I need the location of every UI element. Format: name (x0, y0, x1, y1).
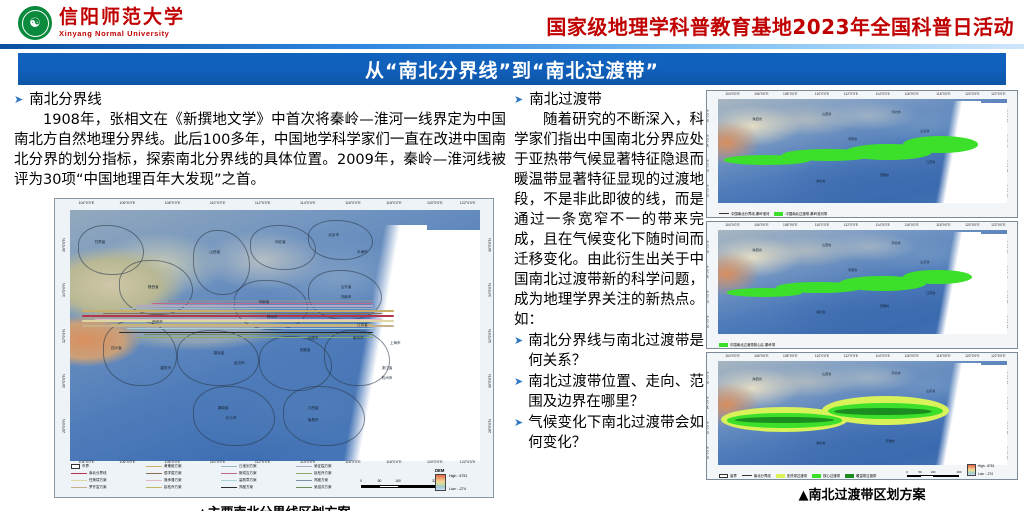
scale-tick: 0 (906, 470, 908, 474)
transition-band (903, 136, 978, 153)
legend-swatch (146, 473, 162, 475)
event-title: 国家级地理学科普教育基地2023年全国科普日活动 (546, 11, 1014, 40)
legend-swatch (774, 212, 783, 216)
legend-swatch (146, 480, 162, 482)
dem-high-label: High : 8751 (978, 464, 994, 468)
header-divider (0, 44, 1024, 49)
bullet-arrow-icon: ➤ (514, 92, 523, 109)
legend-swatch (221, 487, 237, 489)
legend-swatch (719, 213, 729, 214)
slide-title-text: 从“南北分界线”到“南北过渡带” (365, 56, 659, 83)
university-logo: ☯ 信阳师范大学 Xinyang Normal University (18, 6, 185, 40)
left-map-caption: ▲主要南北分界线区划方案 (54, 502, 494, 511)
legend-label: 亚热带过渡带 (787, 473, 807, 478)
legend-label: 中国南北分界线-秦岭淮河 (731, 211, 769, 216)
left-heading-text: 南北分界线 (29, 92, 102, 109)
transition-band (903, 270, 972, 285)
legend-label: 中国南北过渡带核心区-秦岭带 (730, 342, 775, 347)
bullet-arrow-icon: ➤ (514, 331, 523, 351)
map-transition-zone-2[interactable]: 104°0'0"E106°0'0"E108°0'0"E 110°0'0"E112… (706, 221, 1018, 349)
scale-tick: 200 (957, 470, 962, 474)
scale-tick: 100 (931, 470, 936, 474)
map3-lon-axis-top: 104°0'0"E106°0'0"E108°0'0"E 110°0'0"E112… (718, 354, 1007, 361)
map3-legend: 省界 南北分界线 亚热带过渡带 核心过渡带 暖温带过渡带 (719, 473, 876, 478)
legend-swatch (71, 464, 80, 469)
map-lon-axis-top: 104°0'0"E106°0'0"E 108°0'0"E110°0'0"E 11… (70, 201, 480, 209)
dem-low-label: Low : -274 (449, 487, 467, 491)
sea-area (406, 230, 480, 461)
legend-swatch (221, 480, 237, 482)
mid-paragraph: 随着研究的不断深入，科学家们指出中国南北分界应处于亚热带气候显著特征隐退而暖温带… (514, 110, 704, 330)
scale-tick: 160 (395, 479, 401, 483)
left-paragraph: 1908年，张相文在《新撰地文学》中首次将秦岭—淮河一线界定为中国南北方自然地理… (14, 110, 506, 190)
legend-swatch (742, 475, 752, 476)
legend-swatch (71, 480, 87, 482)
legend-swatch (221, 466, 237, 468)
sea-area (969, 234, 1007, 334)
legend-swatch (845, 474, 854, 478)
dem-high-label: High : 8751 (449, 474, 467, 478)
list-item: ➤ 南北过渡带位置、走向、范围及边界在哪里？ (514, 372, 704, 412)
bullet-arrow-icon: ➤ (514, 413, 523, 433)
bullet-arrow-icon: ➤ (14, 92, 23, 109)
transition-band-core (834, 408, 932, 415)
map-lat-axis-right: 36°0'0"N34°0'0"N 32°0'0"N30°0'0"N28°0'0"… (482, 210, 492, 461)
legend-label: 中国南北过渡带-秦岭淮河带 (785, 211, 827, 216)
dem-color-ramp (435, 474, 446, 491)
map3-lat-axis-left: 36°0'0"N34°0'0"N 32°0'0"N30°0'0"N (708, 361, 717, 465)
right-map-caption: ▲南北过渡带区划方案 (706, 484, 1018, 503)
scale-tick: 50 (918, 470, 921, 474)
map1-lon-axis-top: 104°0'0"E106°0'0"E108°0'0"E 110°0'0"E112… (718, 92, 1007, 99)
bullet-arrow-icon: ➤ (514, 372, 523, 392)
map1-legend: 中国南北分界线-秦岭淮河 中国南北过渡带-秦岭淮河带 (719, 211, 827, 216)
sea-area (969, 103, 1007, 203)
legend-label: 核心过渡带 (823, 473, 840, 478)
map3-dem-legend: High : 8751 Low : -274 (967, 464, 1013, 476)
university-name-en: Xinyang Normal University (59, 30, 185, 38)
map3-canvas: 陕西省 山西省 河北省 山东省 湖北省 安徽省 (718, 361, 1007, 465)
map2-lon-axis-top: 104°0'0"E106°0'0"E108°0'0"E 110°0'0"E112… (718, 223, 1007, 230)
map-lat-axis-left: 36°0'0"N34°0'0"N 32°0'0"N30°0'0"N28°0'0"… (56, 210, 66, 461)
legend-swatch (146, 466, 162, 468)
dem-title: DEM (435, 468, 487, 473)
map-transition-zone-3[interactable]: 104°0'0"E106°0'0"E108°0'0"E 110°0'0"E112… (706, 352, 1018, 480)
question-list: ➤ 南北分界线与南北过渡带是何关系？ ➤ 南北过渡带位置、走向、范围及边界在哪里… (514, 331, 704, 453)
legend-swatch (71, 487, 87, 489)
list-item: ➤ 南北分界线与南北过渡带是何关系？ (514, 331, 704, 371)
map2-lat-axis-left: 36°0'0"N34°0'0"N 32°0'0"N30°0'0"N (708, 230, 717, 334)
left-heading: ➤ 南北分界线 (14, 92, 506, 109)
dem-low-label: Low : -274 (978, 472, 994, 476)
map2-lat-axis-right: 36°0'0"N34°0'0"N 32°0'0"N30°0'0"N (1007, 230, 1016, 334)
mid-heading-text: 南北过渡带 (529, 92, 602, 109)
left-content-column: ➤ 南北分界线 1908年，张相文在《新撰地文学》中首次将秦岭—淮河一线界定为中… (14, 92, 506, 511)
question-text: 南北分界线与南北过渡带是何关系？ (528, 331, 704, 371)
question-text: 南北过渡带位置、走向、范围及边界在哪里？ (528, 372, 704, 412)
slide-root: ☯ 信阳师范大学 Xinyang Normal University 国家级地理… (0, 0, 1024, 511)
scale-tick: 80 (378, 479, 382, 483)
legend-swatch (719, 474, 728, 478)
scale-tick: 0 (360, 479, 362, 483)
map1-canvas: 陕西省 山西省 河北省 山东省 河南省 江苏省 安徽省 湖北省 (718, 99, 1007, 203)
legend-swatch (296, 466, 312, 468)
dem-color-ramp (967, 464, 976, 476)
legend-swatch (221, 473, 237, 475)
legend-swatch (296, 473, 312, 475)
map-boundary-schemes[interactable]: 104°0'0"E106°0'0"E 108°0'0"E110°0'0"E 11… (54, 198, 494, 498)
legend-swatch (719, 343, 728, 347)
legend-swatch (71, 473, 87, 475)
university-seal-icon: ☯ (18, 6, 52, 40)
slide-title-bar: 从“南北分界线”到“南北过渡带” (18, 53, 1006, 85)
map1-lat-axis-right: 36°0'0"N34°0'0"N 32°0'0"N30°0'0"N (1007, 99, 1016, 203)
mid-content-column: ➤ 南北过渡带 随着研究的不断深入，科学家们指出中国南北分界应处于亚热带气候显著… (514, 92, 704, 454)
map2-legend: 中国南北过渡带核心区-秦岭带 (719, 342, 775, 347)
legend-swatch (812, 474, 821, 478)
question-text: 气候变化下南北过渡带会如何变化？ (528, 413, 704, 453)
map-canvas: 甘肃省 陕西省 山西省 河北省 北京市 天津市 山东省 河南省 江苏省 安徽省 … (70, 210, 480, 461)
slide-header: ☯ 信阳师范大学 Xinyang Normal University 国家级地理… (0, 0, 1024, 46)
legend-swatch (296, 487, 312, 489)
dem-legend: DEM High : 8751 Low : -274 (435, 468, 487, 491)
map-transition-zone-1[interactable]: 104°0'0"E106°0'0"E108°0'0"E 110°0'0"E112… (706, 90, 1018, 218)
map-legend: 市界 黄秉维方案 丘宝剑方案 吴征镒方案 南北分界线 侯学煜方案 斯成吉方案 赵… (71, 463, 371, 493)
right-map-column: 104°0'0"E106°0'0"E108°0'0"E 110°0'0"E112… (706, 90, 1018, 503)
mid-heading: ➤ 南北过渡带 (514, 92, 704, 109)
map3-scale-bar: 0 50 100 200 (907, 470, 959, 477)
university-name-cn: 信阳师范大学 (59, 8, 185, 27)
map-scale-bar: 0 80 160 320 km (361, 479, 435, 488)
map3-lat-axis-right: 36°0'0"N34°0'0"N 32°0'0"N30°0'0"N (1007, 361, 1016, 465)
legend-swatch (296, 480, 312, 482)
legend-label: 省界 (730, 473, 737, 478)
legend-label: 暖温带过渡带 (856, 473, 876, 478)
legend-swatch (776, 474, 785, 478)
legend-label: 南北分界线 (754, 473, 771, 478)
sea-area (969, 365, 1007, 465)
map1-lat-axis-left: 36°0'0"N34°0'0"N 32°0'0"N30°0'0"N (708, 99, 717, 203)
map2-canvas: 陕西省 山西省 河北省 山东省 河南省 江苏省 安徽省 湖北省 (718, 230, 1007, 334)
legend-swatch (146, 487, 162, 489)
list-item: ➤ 气候变化下南北过渡带会如何变化？ (514, 413, 704, 453)
